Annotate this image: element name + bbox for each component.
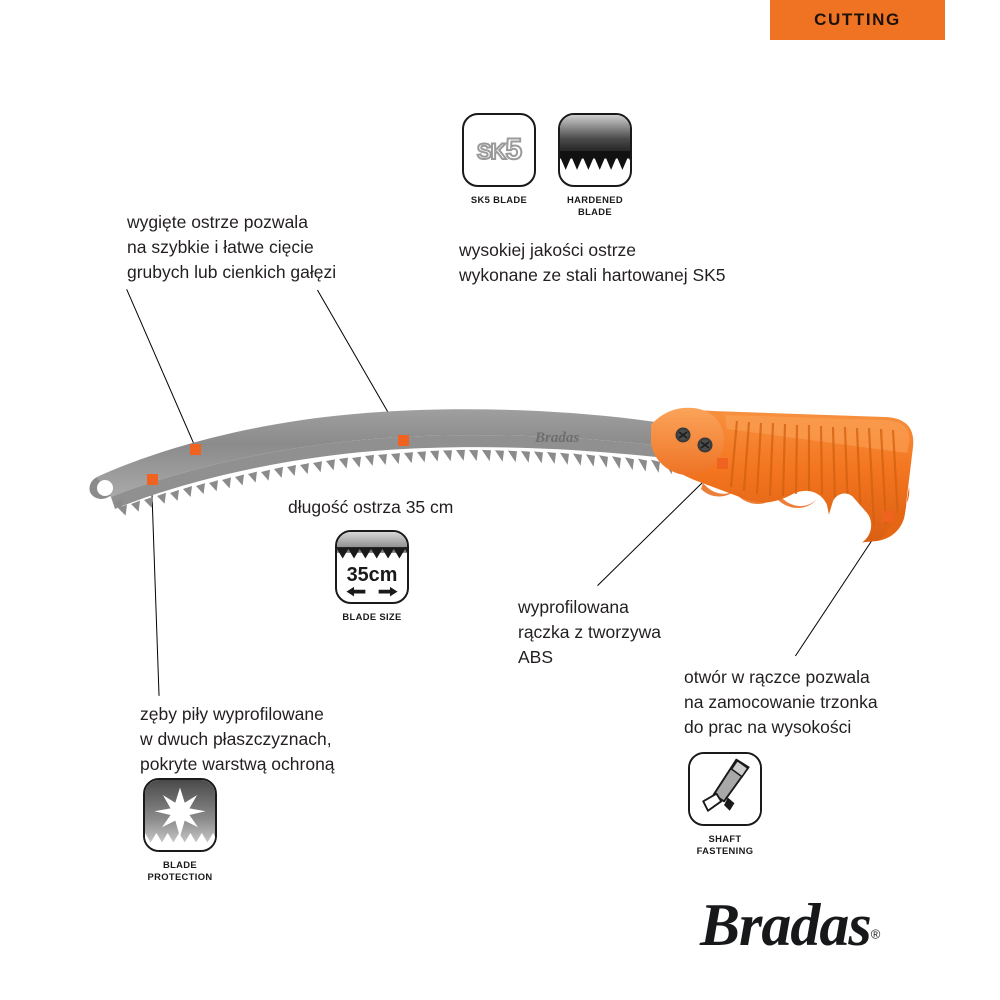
- bradas-logo: Bradas®: [700, 895, 955, 965]
- hardened-blade-icon: [558, 113, 632, 187]
- saw-handle: [651, 408, 913, 545]
- marker-sk5-steel: [398, 435, 409, 446]
- product-illustration: Bradas: [85, 395, 915, 610]
- badge-shaft-fastening-label: SHAFT FASTENING: [688, 833, 762, 857]
- blade-etch-text: Bradas: [534, 430, 579, 446]
- marker-curved-blade: [190, 444, 201, 455]
- sk5-glyph: SK5: [464, 133, 534, 167]
- shaft-fastening-icon: [688, 752, 762, 826]
- badge-blade-protection: BLADE PROTECTION: [143, 778, 217, 883]
- badge-sk5-icon: SK5: [462, 113, 536, 187]
- badge-blade-protection-label: BLADE PROTECTION: [143, 859, 217, 883]
- bradas-wordmark: Bradas: [700, 892, 871, 958]
- marker-teeth-profile: [147, 474, 158, 485]
- marker-handle-hole: [883, 511, 894, 522]
- badge-blade-size-label: BLADE SIZE: [335, 611, 409, 623]
- callout-sk5-steel: wysokiej jakości ostrze wykonane ze stal…: [459, 238, 726, 288]
- badge-hardened-blade: HARDENED BLADE: [558, 113, 632, 218]
- callout-curved-blade: wygięte ostrze pozwala na szybkie i łatw…: [127, 210, 336, 285]
- callout-teeth-profile: zęby piły wyprofilowane w dwuch płaszczy…: [140, 702, 335, 777]
- registered-mark: ®: [871, 927, 881, 942]
- saw-blade: Bradas: [90, 409, 673, 519]
- infographic-page: CUTTING SK5 SK5 BLADE HARDENED BLADE: [0, 0, 1000, 1000]
- badge-hardened-label: HARDENED BLADE: [558, 194, 632, 218]
- badge-sk5-blade: SK5 SK5 BLADE: [462, 113, 536, 206]
- cutting-banner-label: CUTTING: [814, 10, 901, 30]
- badge-sk5-label: SK5 BLADE: [462, 194, 536, 206]
- marker-abs-handle: [717, 458, 728, 469]
- callout-handle-hole: otwór w rączce pozwala na zamocowanie tr…: [684, 665, 878, 740]
- badge-shaft-fastening: SHAFT FASTENING: [688, 752, 762, 857]
- cutting-category-banner: CUTTING: [770, 0, 945, 40]
- blade-protection-icon: [143, 778, 217, 852]
